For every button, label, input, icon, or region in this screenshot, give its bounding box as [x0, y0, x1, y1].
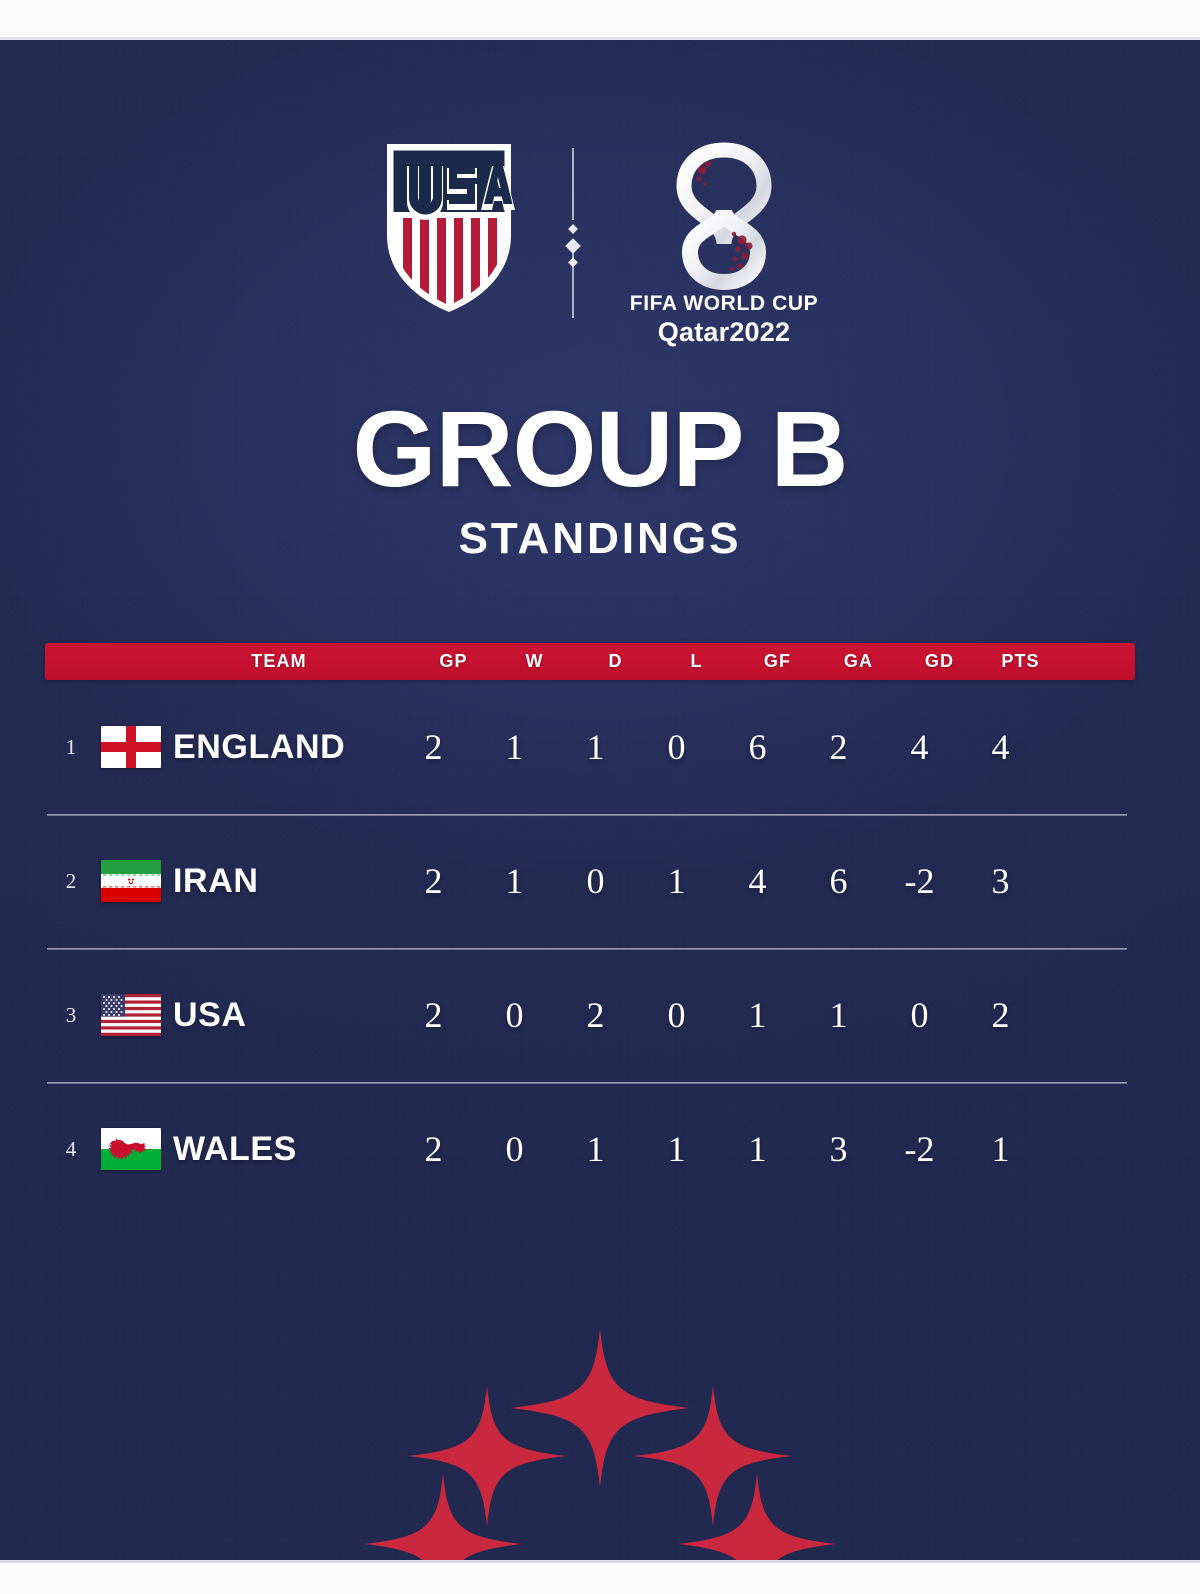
top-border-bar: [0, 0, 1200, 40]
row-ga: 6: [798, 860, 879, 902]
row-pts: 1: [960, 1128, 1041, 1170]
row-team-name: USA: [165, 996, 393, 1035]
row-gd: -2: [879, 1128, 960, 1170]
poster-stage: FIFA WORLD CUP Qatar2022 GROUP B STANDIN…: [0, 40, 1200, 1560]
usa-flag-icon: [97, 994, 165, 1036]
row-gp: 2: [393, 994, 474, 1036]
row-l: 1: [636, 1128, 717, 1170]
row-ga: 1: [798, 994, 879, 1036]
row-team-name: ENGLAND: [165, 728, 393, 767]
branding-row: FIFA WORLD CUP Qatar2022: [0, 142, 1200, 348]
row-gp: 2: [393, 726, 474, 768]
row-w: 0: [474, 1128, 555, 1170]
row-gd: 0: [879, 994, 960, 1036]
row-l: 0: [636, 726, 717, 768]
row-l: 0: [636, 994, 717, 1036]
row-pts: 2: [960, 994, 1041, 1036]
row-team-name: WALES: [165, 1130, 393, 1169]
table-row[interactable]: 3: [45, 948, 1135, 1082]
standings-table: TEAM GP W D L GF GA GD PTS 1: [45, 643, 1135, 1216]
qatar-2022-label: Qatar2022: [630, 317, 818, 348]
column-header-d: D: [575, 651, 656, 672]
row-rank: 3: [45, 1003, 97, 1028]
row-gd: 4: [879, 726, 960, 768]
wales-flag-icon: [97, 1128, 165, 1170]
column-header-ga: GA: [818, 651, 899, 672]
table-row[interactable]: 4 WALES 2 0 1 1: [45, 1082, 1135, 1216]
row-ga: 2: [798, 726, 879, 768]
row-d: 1: [555, 726, 636, 768]
row-l: 1: [636, 860, 717, 902]
column-header-gf: GF: [737, 651, 818, 672]
england-flag-icon: [97, 726, 165, 768]
qatar-2022-emblem-icon: [672, 142, 776, 290]
bottom-border-bar: [0, 1560, 1200, 1594]
column-header-l: L: [656, 651, 737, 672]
row-team-name: IRAN: [165, 862, 393, 901]
standings-poster: FIFA WORLD CUP Qatar2022 GROUP B STANDIN…: [0, 0, 1200, 1594]
row-d: 2: [555, 994, 636, 1036]
row-rank: 1: [45, 735, 97, 760]
row-d: 0: [555, 860, 636, 902]
diamond-divider-icon: [517, 142, 629, 322]
row-pts: 4: [960, 726, 1041, 768]
table-row[interactable]: 2: [45, 814, 1135, 948]
row-gf: 1: [717, 1128, 798, 1170]
row-w: 1: [474, 860, 555, 902]
row-gf: 4: [717, 860, 798, 902]
row-gp: 2: [393, 1128, 474, 1170]
row-ga: 3: [798, 1128, 879, 1170]
column-header-gp: GP: [413, 651, 494, 672]
column-header-gd: GD: [899, 651, 980, 672]
page-subtitle: STANDINGS: [0, 517, 1200, 561]
row-rank: 4: [45, 1137, 97, 1162]
row-gd: -2: [879, 860, 960, 902]
column-header-pts: PTS: [980, 651, 1061, 672]
row-w: 0: [474, 994, 555, 1036]
us-soccer-crest-icon: [381, 142, 517, 314]
fifa-world-cup-label: FIFA WORLD CUP: [630, 292, 818, 316]
row-gp: 2: [393, 860, 474, 902]
four-point-star-icon: [0, 1280, 1200, 1560]
page-title: GROUP B: [0, 395, 1200, 503]
iran-flag-icon: [97, 860, 165, 902]
row-pts: 3: [960, 860, 1041, 902]
table-row[interactable]: 1 ENGLAND 2 1 1 0 6 2 4: [45, 680, 1135, 814]
headline-block: GROUP B STANDINGS: [0, 395, 1200, 561]
tournament-wordmark: FIFA WORLD CUP Qatar2022: [630, 292, 818, 348]
row-w: 1: [474, 726, 555, 768]
row-rank: 2: [45, 869, 97, 894]
column-header-w: W: [494, 651, 575, 672]
row-gf: 6: [717, 726, 798, 768]
tournament-branding: FIFA WORLD CUP Qatar2022: [629, 142, 819, 348]
column-header-team: TEAM: [165, 651, 413, 672]
table-header-row: TEAM GP W D L GF GA GD PTS: [45, 643, 1135, 680]
row-d: 1: [555, 1128, 636, 1170]
row-gf: 1: [717, 994, 798, 1036]
